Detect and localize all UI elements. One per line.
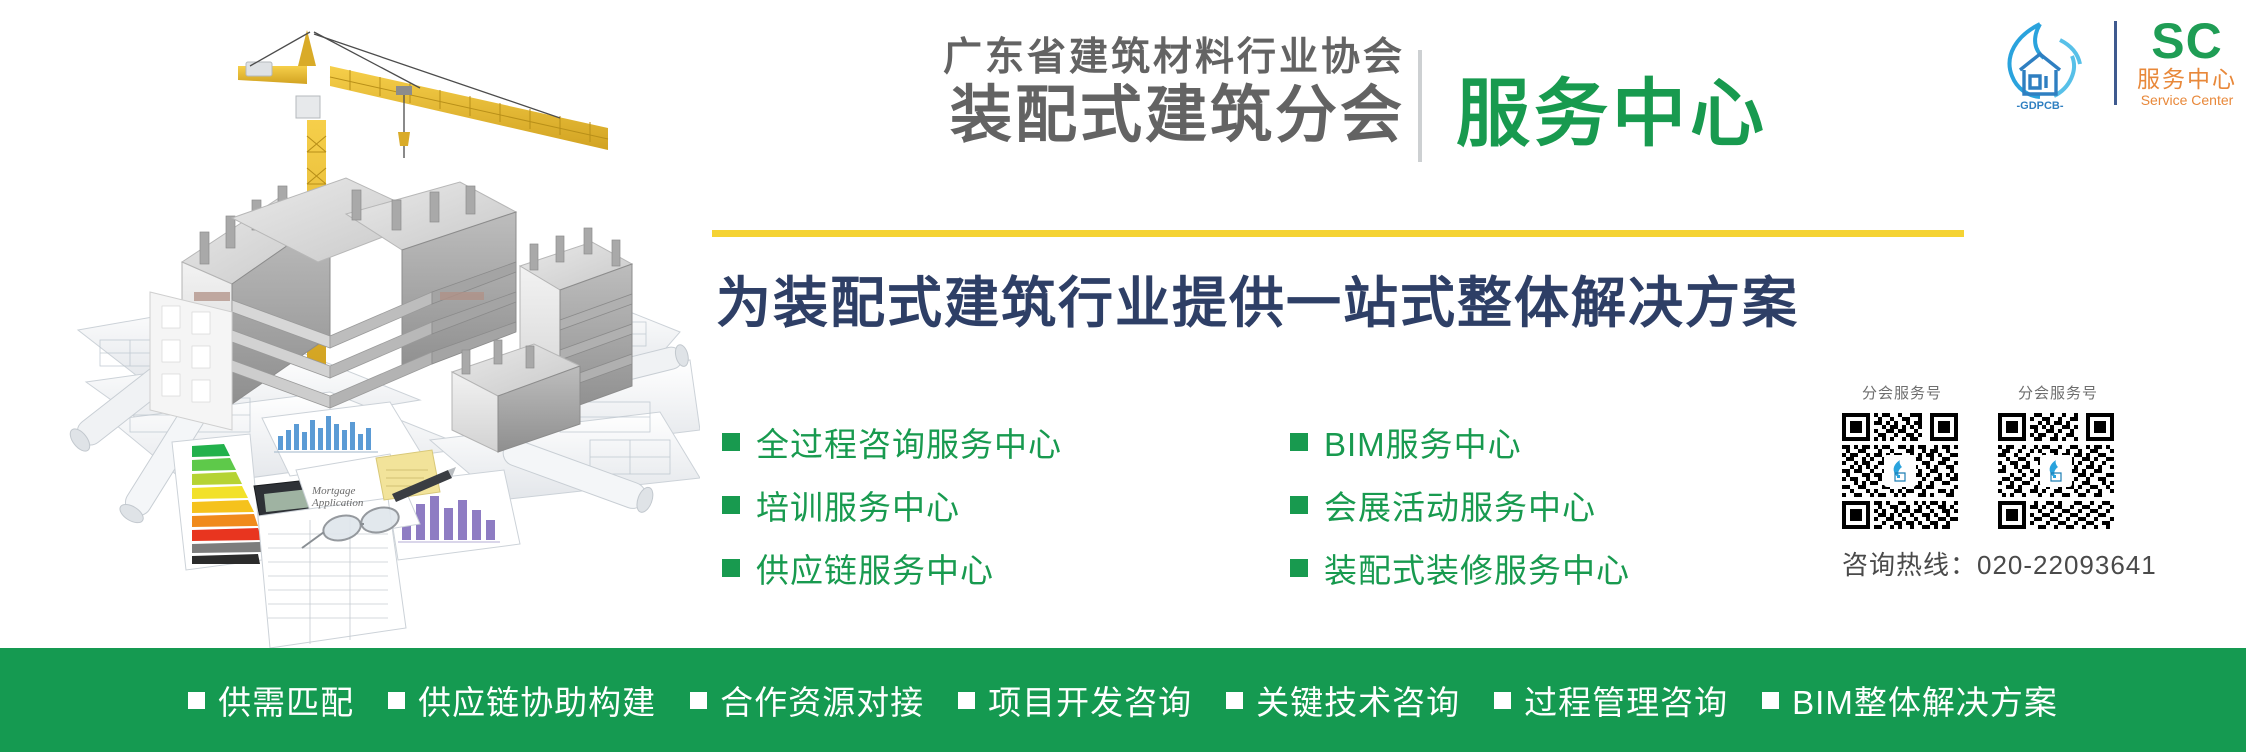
square-bullet-icon [388, 692, 405, 709]
organisation-title: 广东省建筑材料行业协会 装配式建筑分会 [845, 38, 1405, 150]
tag-label: 项目开发咨询 [988, 676, 1192, 724]
tag-label: BIM整体解决方案 [1792, 676, 2058, 724]
square-bullet-icon [690, 692, 707, 709]
tag-item-bim-total-solution[interactable]: BIM整体解决方案 [1762, 676, 2058, 724]
square-bullet-icon [1290, 559, 1308, 577]
service-item-prefab-decoration[interactable]: 装配式装修服务中心 [1290, 536, 1630, 599]
sc-letters: SC [2151, 18, 2222, 64]
bottom-capability-bar: 供需匹配 供应链协助构建 合作资源对接 项目开发咨询 关键技术咨询 过程管理咨询 [0, 648, 2246, 752]
service-label: 培训服务中心 [756, 481, 960, 529]
qr-cell-left: 分会服务号 [1838, 382, 1966, 533]
tag-item-key-technology-consulting[interactable]: 关键技术咨询 [1226, 676, 1460, 724]
service-label: BIM服务中心 [1324, 418, 1522, 466]
square-bullet-icon [958, 692, 975, 709]
qr-code-block: 分会服务号 [1838, 382, 2238, 582]
qr-code-row: 分会服务号 [1838, 382, 2238, 533]
qr-center-logo-icon [1884, 455, 1916, 487]
qr-code-image-left[interactable] [1838, 409, 1962, 533]
construction-hero-image: Mortgage Application [0, 0, 700, 648]
tag-label: 过程管理咨询 [1524, 676, 1728, 724]
square-bullet-icon [1290, 433, 1308, 451]
svg-text:Mortgage: Mortgage [311, 485, 356, 497]
tag-item-supply-chain-build[interactable]: 供应链协助构建 [388, 676, 656, 724]
square-bullet-icon [722, 496, 740, 514]
energy-rating-chart [172, 434, 262, 570]
qr-code-image-right[interactable] [1994, 409, 2118, 533]
tag-item-partner-resource-matching[interactable]: 合作资源对接 [690, 676, 924, 724]
tag-label: 供需匹配 [218, 676, 354, 724]
service-item-exhibition[interactable]: 会展活动服务中心 [1290, 473, 1630, 536]
service-center-heading: 服务中心 [1456, 54, 1768, 161]
service-label: 会展活动服务中心 [1324, 481, 1596, 529]
org-name-line2: 装配式建筑分会 [845, 83, 1405, 150]
banner-tagline: 为装配式建筑行业提供一站式整体解决方案 [716, 258, 1799, 338]
service-list-right: BIM服务中心 会展活动服务中心 装配式装修服务中心 [1290, 410, 1630, 599]
square-bullet-icon [1290, 496, 1308, 514]
service-label: 装配式装修服务中心 [1324, 544, 1630, 592]
tag-label: 供应链协助构建 [418, 676, 656, 724]
tag-label: 关键技术咨询 [1256, 676, 1460, 724]
service-item-training[interactable]: 培训服务中心 [722, 473, 1062, 536]
service-label: 供应链服务中心 [756, 544, 994, 592]
sc-chinese-label: 服务中心 [2137, 66, 2237, 92]
qr-cell-right: 分会服务号 [1994, 382, 2122, 533]
service-item-supply-chain[interactable]: 供应链服务中心 [722, 536, 1062, 599]
sc-english-label: Service Center [2141, 93, 2234, 108]
svg-text:Application: Application [311, 497, 364, 509]
org-name-line1: 广东省建筑材料行业协会 [845, 38, 1405, 79]
qr-center-logo-icon [2040, 455, 2072, 487]
qr-caption-left: 分会服务号 [1838, 382, 1966, 403]
service-item-bim[interactable]: BIM服务中心 [1290, 410, 1630, 473]
yellow-divider-rule [712, 230, 1964, 237]
service-label: 全过程咨询服务中心 [756, 418, 1062, 466]
brand-logo: -GDPCB- SC 服务中心 Service Center [1986, 14, 2237, 112]
tag-item-process-management-consulting[interactable]: 过程管理咨询 [1494, 676, 1728, 724]
sc-mark: SC 服务中心 Service Center [2137, 18, 2237, 108]
hotline-text: 咨询热线：020-22093641 [1842, 545, 2238, 582]
header-vertical-divider [1418, 50, 1422, 162]
square-bullet-icon [1494, 692, 1511, 709]
tag-item-project-development-consulting[interactable]: 项目开发咨询 [958, 676, 1192, 724]
bottom-bar-items: 供需匹配 供应链协助构建 合作资源对接 项目开发咨询 关键技术咨询 过程管理咨询 [188, 676, 2058, 724]
tag-label: 合作资源对接 [720, 676, 924, 724]
tag-item-supply-demand-matching[interactable]: 供需匹配 [188, 676, 354, 724]
gdpcb-emblem-icon: -GDPCB- [1986, 14, 2094, 112]
square-bullet-icon [188, 692, 205, 709]
service-list-left: 全过程咨询服务中心 培训服务中心 供应链服务中心 [722, 410, 1062, 599]
service-item-full-process-consulting[interactable]: 全过程咨询服务中心 [722, 410, 1062, 473]
qr-caption-right: 分会服务号 [1994, 382, 2122, 403]
logo-divider [2114, 21, 2117, 105]
square-bullet-icon [1762, 692, 1779, 709]
square-bullet-icon [722, 433, 740, 451]
square-bullet-icon [722, 559, 740, 577]
square-bullet-icon [1226, 692, 1243, 709]
promotional-banner: Mortgage Application [0, 0, 2246, 752]
gdpcb-wordmark: -GDPCB- [2016, 100, 2063, 112]
